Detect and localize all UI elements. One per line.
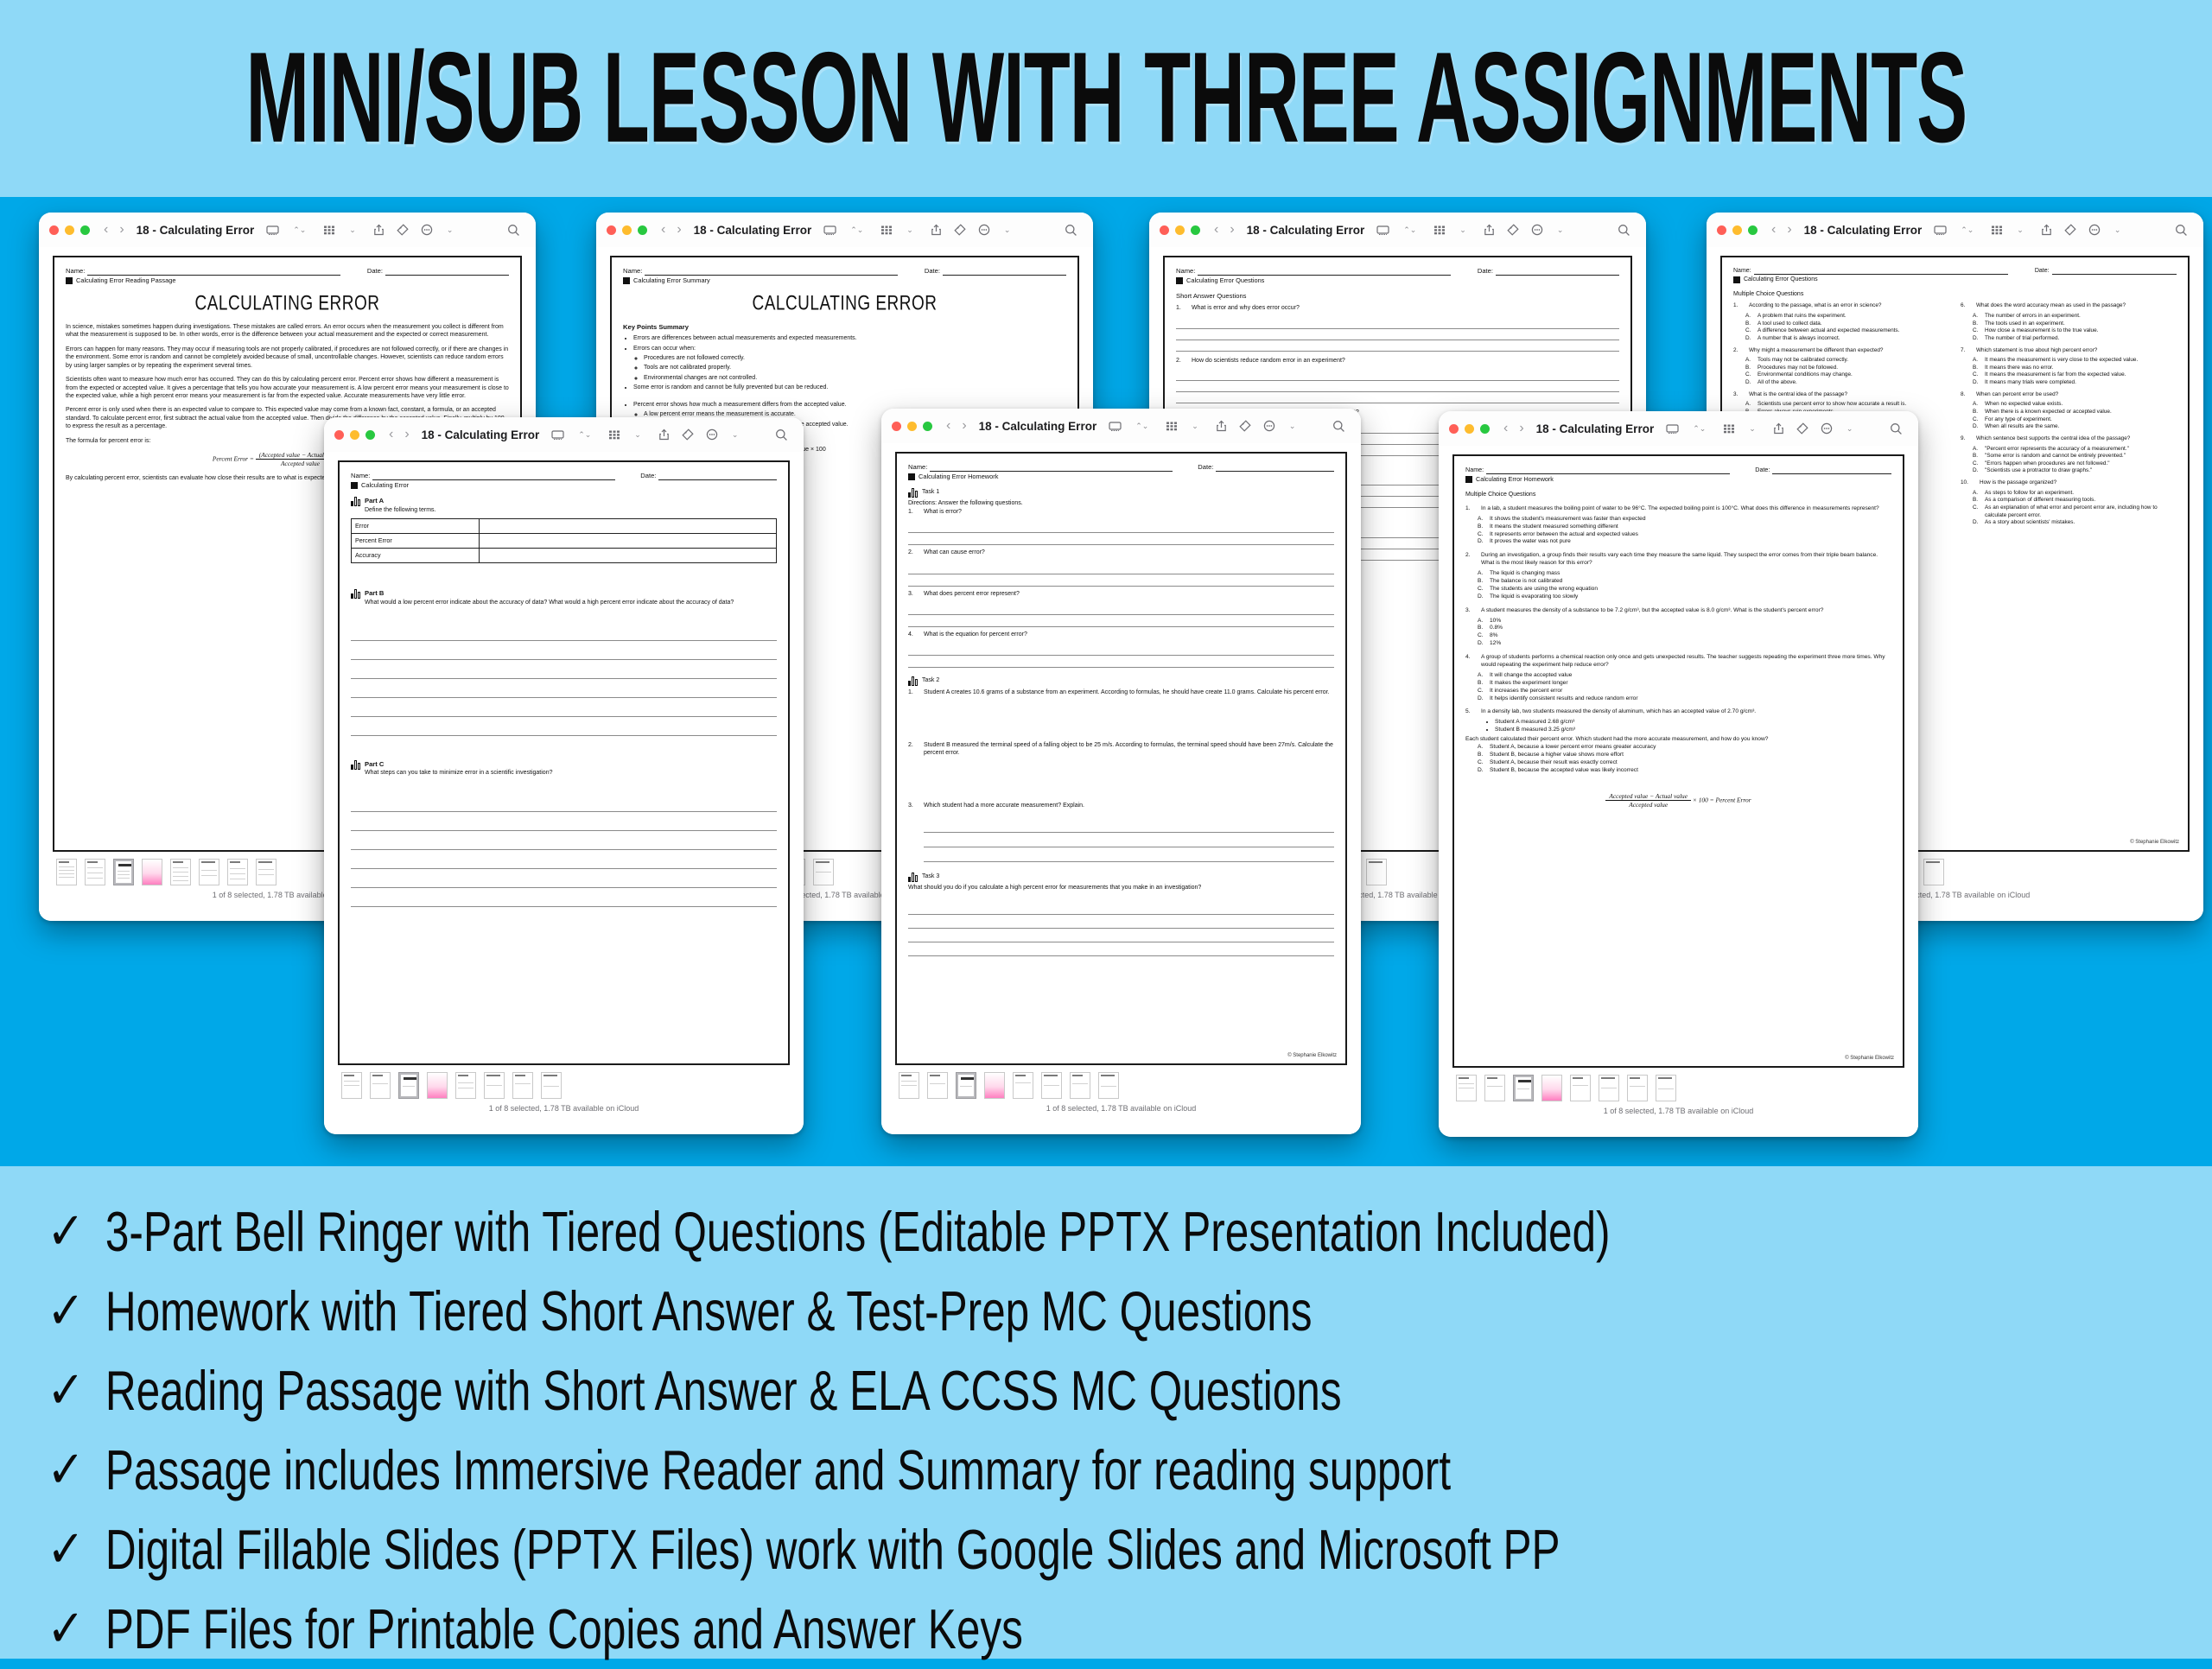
search-icon[interactable] — [775, 428, 788, 441]
minimize-icon[interactable] — [1465, 424, 1474, 434]
file-thumbnail[interactable] — [899, 1072, 919, 1099]
answer-lines[interactable] — [351, 622, 777, 736]
window-toolbar[interactable]: ‹ › 18 - Calculating Error ⌃⌄ ⌄ ⌄ — [596, 213, 1093, 247]
page-title: MINI/SUB LESSON WITH THREE ASSIGNMENTS — [245, 25, 1967, 172]
maximize-icon[interactable] — [80, 225, 90, 235]
choice[interactable]: B.A tool used to collect data. — [1745, 320, 1949, 328]
filmstrip[interactable] — [338, 1065, 790, 1101]
document-heading: CALCULATING ERROR — [66, 290, 509, 318]
file-thumbnail[interactable] — [256, 859, 276, 885]
file-thumbnail[interactable] — [227, 859, 248, 885]
share-icon[interactable] — [373, 224, 385, 236]
nav-arrows[interactable]: ‹ › — [389, 427, 410, 442]
share-icon[interactable] — [931, 224, 942, 236]
answer-lines[interactable] — [908, 901, 1334, 956]
more-icon[interactable] — [2088, 224, 2101, 236]
choice[interactable]: A.10% — [1478, 618, 1891, 625]
share-icon[interactable] — [658, 428, 670, 441]
choice[interactable]: B.Procedures may not be followed. — [1745, 365, 1949, 372]
choice-list: A.Tools may not be calibrated correctly.… — [1745, 357, 1949, 387]
chevron-updown-icon[interactable]: ⌃⌄ — [293, 225, 306, 235]
choice[interactable]: C.It increases the percent error — [1478, 688, 1891, 695]
file-thumbnail[interactable] — [541, 1072, 562, 1099]
minimize-icon[interactable] — [622, 225, 632, 235]
choice[interactable]: A.It will change the accepted value — [1478, 672, 1891, 680]
toolbar-icons[interactable]: ⌃⌄ ⌄ ⌄ — [1934, 224, 2120, 236]
q-text: Which statement is true about high perce… — [1976, 347, 2177, 355]
tag-icon[interactable] — [1239, 420, 1251, 432]
search-icon[interactable] — [1890, 422, 1903, 435]
chevron-updown-icon[interactable]: ⌃⌄ — [850, 225, 863, 235]
more-icon[interactable] — [978, 224, 990, 236]
definition-cell[interactable] — [479, 549, 776, 563]
chevron-updown-icon[interactable]: ⌃⌄ — [1403, 225, 1416, 235]
file-thumbnail[interactable] — [1098, 1072, 1119, 1099]
choice[interactable]: B.As a comparison of different measuring… — [1973, 497, 2177, 505]
nav-arrows[interactable]: ‹ › — [104, 222, 124, 238]
feature-label: Passage includes Immersive Reader and Su… — [97, 1437, 1451, 1502]
minimize-icon[interactable] — [350, 430, 359, 440]
more-icon[interactable] — [421, 224, 433, 236]
close-icon[interactable] — [607, 225, 616, 235]
nav-arrows[interactable]: ‹ › — [661, 222, 682, 238]
window-toolbar[interactable]: ‹ › 18 - Calculating Error ⌃⌄ ⌄ ⌄ — [1149, 213, 1646, 247]
search-icon[interactable] — [1065, 224, 1077, 237]
file-thumbnail[interactable] — [1070, 1072, 1090, 1099]
nav-arrows[interactable]: ‹ › — [1503, 421, 1524, 436]
file-thumbnail-selected[interactable] — [1513, 1075, 1534, 1101]
tag-icon[interactable] — [1507, 224, 1519, 236]
choice[interactable]: C.Student A, because their result was ex… — [1478, 759, 1891, 767]
back-icon[interactable]: ‹ — [661, 222, 665, 238]
part-a-directions: Define the following terms. — [365, 507, 435, 513]
answer-lines[interactable] — [1176, 370, 1619, 403]
q-number: 4. — [1465, 654, 1476, 670]
name-date-row: Name: Date: — [623, 267, 1066, 276]
file-thumbnail[interactable] — [1923, 859, 1944, 885]
formula-label: Percent Error = — [213, 455, 254, 463]
filmstrip[interactable] — [895, 1065, 1347, 1101]
choice[interactable]: A.It means the measurement is very close… — [1973, 357, 2177, 365]
chevron-down-icon[interactable]: ⌄ — [349, 225, 356, 235]
date-label: Date: — [1198, 463, 1213, 472]
question-text: How do scientists reduce random error in… — [1192, 357, 1619, 365]
maximize-icon[interactable] — [1191, 225, 1200, 235]
choice[interactable]: B.Student B, because a higher value show… — [1478, 752, 1891, 759]
file-thumbnail[interactable] — [1541, 1075, 1562, 1101]
choice[interactable]: C.It represents error between the actual… — [1478, 531, 1891, 539]
finder-window-homework-mc[interactable]: ‹ › 18 - Calculating Error ⌃⌄ ⌄ ⌄ Name: — [1439, 411, 1918, 1137]
file-thumbnail[interactable] — [1456, 1075, 1477, 1101]
filmstrip[interactable] — [1452, 1068, 1904, 1103]
mc-question: 2.Why might a measurement be different t… — [1733, 347, 1949, 355]
choice[interactable]: C.A difference between actual and expect… — [1745, 327, 1949, 335]
back-icon[interactable]: ‹ — [389, 427, 393, 442]
window-toolbar[interactable]: ‹ › 18 - Calculating Error ⌃⌄ ⌄ ⌄ — [324, 417, 804, 452]
window-toolbar[interactable]: ‹ › 18 - Calculating Error ⌃⌄ ⌄ ⌄ — [1707, 213, 2203, 247]
file-thumbnail[interactable] — [484, 1072, 505, 1099]
file-thumbnail[interactable] — [1627, 1075, 1648, 1101]
choice[interactable]: D.It means many trials were completed. — [1973, 379, 2177, 387]
question-item: 4.What is the equation for percent error… — [908, 631, 1334, 638]
more-icon[interactable] — [1531, 224, 1543, 236]
choice-text: As a story about scientists' mistakes. — [1985, 519, 2075, 527]
toolbar-icons[interactable]: ⌃⌄ ⌄ ⌄ — [823, 224, 1010, 236]
close-icon[interactable] — [49, 225, 59, 235]
file-thumbnail[interactable] — [984, 1072, 1005, 1099]
term-cell: Error — [352, 519, 480, 534]
close-icon[interactable] — [1449, 424, 1459, 434]
part-c-header: Part CWhat steps can you take to minimiz… — [351, 760, 777, 777]
file-thumbnail[interactable] — [199, 859, 219, 885]
choice[interactable]: B."Some error is random and cannot be en… — [1973, 453, 2177, 460]
choice[interactable]: D.As a story about scientists' mistakes. — [1973, 519, 2177, 527]
formula-tail: × 100 = Percent Error — [1693, 796, 1751, 803]
back-icon[interactable]: ‹ — [1503, 421, 1508, 436]
forward-icon[interactable]: › — [1519, 421, 1523, 436]
choice-text: All of the above. — [1758, 379, 1797, 387]
group-icon[interactable] — [1991, 225, 2003, 236]
choice[interactable]: D.12% — [1478, 640, 1891, 648]
group-icon[interactable] — [1723, 423, 1735, 435]
minimize-icon[interactable] — [1732, 225, 1742, 235]
q-text: A group of students performs a chemical … — [1481, 654, 1891, 670]
choice-text: When all results are the same. — [1985, 423, 2059, 431]
maximize-icon[interactable] — [638, 225, 647, 235]
choice[interactable]: A.As steps to follow for an experiment. — [1973, 490, 2177, 498]
tag-icon[interactable] — [682, 428, 694, 441]
traffic-lights[interactable] — [607, 225, 647, 235]
choice[interactable]: D.It helps identify consistent results a… — [1478, 695, 1891, 703]
choice[interactable]: A.It shows the student's measurement was… — [1478, 516, 1891, 524]
nav-arrows[interactable]: ‹ › — [1214, 222, 1235, 238]
file-thumbnail[interactable] — [455, 1072, 476, 1099]
chevron-down-icon[interactable]: ⌄ — [1192, 422, 1198, 431]
tag-icon[interactable] — [1796, 422, 1808, 435]
mc-question: 8.When can percent error be used? — [1961, 391, 2177, 399]
search-icon[interactable] — [507, 224, 520, 237]
maximize-icon[interactable] — [1480, 424, 1490, 434]
mc-question: 3.A student measures the density of a su… — [1465, 607, 1891, 615]
minimize-icon[interactable] — [907, 422, 917, 431]
window-title: 18 - Calculating Error — [979, 420, 1097, 433]
part-a-label: Part A — [365, 497, 384, 505]
choice[interactable]: C.How close a measurement is to the true… — [1973, 327, 2177, 335]
part-b-directions: What would a low percent error indicate … — [365, 600, 734, 606]
close-icon[interactable] — [1160, 225, 1169, 235]
choice[interactable]: C.Environmental conditions may change. — [1745, 371, 1949, 379]
nav-arrows[interactable]: ‹ › — [946, 418, 967, 434]
percent-error-formula: Accepted value − Actual value Accepted v… — [1465, 792, 1891, 809]
answer-lines[interactable] — [351, 793, 777, 907]
view-icon[interactable] — [266, 225, 279, 236]
task1-header: Task 1 — [908, 488, 1334, 498]
choice[interactable]: B.The balance is not calibrated — [1478, 578, 1891, 586]
choice[interactable]: B.It means the student measured somethin… — [1478, 524, 1891, 531]
forward-icon[interactable]: › — [962, 418, 966, 434]
file-thumbnail[interactable] — [1041, 1072, 1062, 1099]
back-icon[interactable]: ‹ — [1771, 222, 1776, 238]
choice[interactable]: D.A number that is always incorrect. — [1745, 335, 1949, 343]
definition-table: Error Percent Error Accuracy — [351, 518, 777, 563]
tag-icon[interactable] — [954, 224, 966, 236]
forward-icon[interactable]: › — [404, 427, 409, 442]
choice[interactable]: D.The number of trial performed. — [1973, 335, 2177, 343]
answer-lines[interactable] — [908, 644, 1334, 668]
chevron-down-icon[interactable]: ⌄ — [1847, 424, 1853, 434]
name-date-row: Name: Date: — [1733, 267, 2177, 275]
toolbar-icons[interactable]: ⌃⌄ ⌄ ⌄ — [266, 224, 453, 236]
feature-label: Homework with Tiered Short Answer & Test… — [97, 1279, 1313, 1343]
choice[interactable]: C.The students are using the wrong equat… — [1478, 586, 1891, 593]
q-text: According to the passage, what is an err… — [1749, 302, 1949, 310]
back-icon[interactable]: ‹ — [1214, 222, 1218, 238]
file-thumbnail-selected[interactable] — [956, 1072, 976, 1099]
file-thumbnail[interactable] — [85, 859, 105, 885]
sub-bullet: Student B measured 3.25 g/cm³ — [1495, 727, 1891, 734]
search-icon[interactable] — [1332, 420, 1345, 433]
part-b-header: Part BWhat would a low percent error ind… — [351, 589, 777, 606]
traffic-lights[interactable] — [1717, 225, 1758, 235]
check-icon: ✓ — [35, 1603, 97, 1655]
toolbar-icons[interactable]: ⌃⌄ ⌄ ⌄ — [1109, 420, 1295, 432]
tag-icon[interactable] — [2064, 224, 2076, 236]
choice-text: It makes the experiment longer — [1490, 680, 1568, 688]
group-icon[interactable] — [323, 225, 335, 236]
close-icon[interactable] — [334, 430, 344, 440]
file-thumbnail[interactable] — [1599, 1075, 1619, 1101]
chevron-down-icon[interactable]: ⌄ — [1004, 225, 1011, 235]
tag-icon[interactable] — [397, 224, 409, 236]
choice-text: It will change the accepted value — [1490, 672, 1572, 680]
choice[interactable]: D.When all results are the same. — [1973, 423, 2177, 431]
maximize-icon[interactable] — [365, 430, 375, 440]
file-thumbnail[interactable] — [1484, 1075, 1505, 1101]
more-icon[interactable] — [706, 428, 718, 441]
choice-text: 8% — [1490, 632, 1498, 640]
maximize-icon[interactable] — [1748, 225, 1758, 235]
chevron-down-icon[interactable]: ⌄ — [732, 430, 739, 440]
maximize-icon[interactable] — [923, 422, 932, 431]
status-bar: 1 of 8 selected, 1.78 TB available on iC… — [1452, 1103, 1904, 1122]
nav-arrows[interactable]: ‹ › — [1771, 222, 1792, 238]
share-icon[interactable] — [1773, 422, 1784, 435]
toolbar-icons[interactable]: ⌃⌄ ⌄ ⌄ — [551, 428, 738, 441]
feature-item: ✓ 3-Part Bell Ringer with Tiered Questio… — [35, 1192, 2177, 1272]
choice[interactable]: B.It means there was no error. — [1973, 365, 2177, 372]
chevron-updown-icon[interactable]: ⌃⌄ — [1961, 225, 1974, 235]
view-icon[interactable] — [1934, 225, 1947, 236]
chevron-down-icon[interactable]: ⌄ — [634, 430, 641, 440]
choice[interactable]: A.The liquid is changing mass — [1478, 570, 1891, 578]
mc-question: 7.Which statement is true about high per… — [1961, 347, 2177, 355]
toolbar-icons[interactable]: ⌃⌄ ⌄ ⌄ — [1376, 224, 1563, 236]
share-icon[interactable] — [2041, 224, 2052, 236]
q-number: 1. — [1465, 505, 1476, 513]
choice[interactable]: C.It means the measurement is far from t… — [1973, 371, 2177, 379]
definition-cell[interactable] — [479, 519, 776, 534]
toolbar-icons[interactable]: ⌃⌄ ⌄ ⌄ — [1666, 422, 1853, 435]
close-icon[interactable] — [1717, 225, 1726, 235]
hw-mc-section-title: Multiple Choice Questions — [1465, 491, 1891, 498]
view-icon[interactable] — [1376, 225, 1389, 236]
file-thumbnail[interactable] — [56, 859, 77, 885]
q-text: In a density lab, two students measured … — [1481, 708, 1891, 716]
view-icon[interactable] — [551, 429, 564, 441]
back-icon[interactable]: ‹ — [104, 222, 108, 238]
chevron-updown-icon[interactable]: ⌃⌄ — [1693, 424, 1706, 434]
name-label: Name: — [351, 472, 370, 480]
view-icon[interactable] — [1109, 421, 1122, 432]
choice[interactable]: A.When no expected value exists. — [1973, 401, 2177, 409]
answer-lines[interactable] — [908, 521, 1334, 545]
file-thumbnail[interactable] — [341, 1072, 362, 1099]
chevron-down-icon[interactable]: ⌄ — [1289, 422, 1296, 431]
file-thumbnail[interactable] — [170, 859, 191, 885]
chevron-down-icon[interactable]: ⌄ — [447, 225, 454, 235]
minimize-icon[interactable] — [1175, 225, 1185, 235]
choice[interactable]: B.0.8% — [1478, 625, 1891, 632]
choice-list: A.The number of errors in an experiment.… — [1973, 313, 2177, 343]
summary-bullet: Procedures are not followed correctly. — [644, 354, 1066, 362]
chevron-down-icon[interactable]: ⌄ — [2114, 225, 2121, 235]
summary-bullet: Environmental changes are not controlled… — [644, 374, 1066, 382]
answer-lines[interactable] — [1176, 318, 1619, 352]
view-icon[interactable] — [823, 225, 836, 236]
file-thumbnail-selected[interactable] — [113, 859, 134, 885]
file-thumbnail[interactable] — [1656, 1075, 1676, 1101]
window-toolbar[interactable]: ‹ › 18 - Calculating Error ⌃⌄ ⌄ ⌄ — [881, 409, 1361, 443]
traffic-lights[interactable] — [334, 430, 375, 440]
choice[interactable]: A.The number of errors in an experiment. — [1973, 313, 2177, 320]
file-thumbnail[interactable] — [142, 859, 162, 885]
group-icon[interactable] — [1166, 421, 1178, 432]
search-icon[interactable] — [1618, 224, 1630, 237]
traffic-lights[interactable] — [1160, 225, 1200, 235]
traffic-lights[interactable] — [1449, 424, 1490, 434]
choice[interactable]: C."Errors happen when procedures are not… — [1973, 460, 2177, 468]
choice[interactable]: D.The liquid is evaporating too slowly — [1478, 593, 1891, 601]
traffic-lights[interactable] — [49, 225, 90, 235]
choice[interactable]: B.When there is a known expected or acce… — [1973, 409, 2177, 416]
choice[interactable]: D.All of the above. — [1745, 379, 1949, 387]
chevron-updown-icon[interactable]: ⌃⌄ — [578, 430, 591, 440]
answer-lines[interactable] — [924, 818, 1334, 862]
choice-text: Student A, because their result was exac… — [1490, 759, 1618, 767]
chevron-down-icon[interactable]: ⌄ — [1557, 225, 1564, 235]
group-icon[interactable] — [608, 429, 620, 441]
window-title: 18 - Calculating Error — [1536, 422, 1655, 435]
choice[interactable]: D.Student B, because the accepted value … — [1478, 767, 1891, 775]
file-thumbnail[interactable] — [512, 1072, 533, 1099]
share-icon[interactable] — [1216, 420, 1227, 432]
window-toolbar[interactable]: ‹ › 18 - Calculating Error ⌃⌄ ⌄ — [39, 213, 536, 247]
share-icon[interactable] — [1484, 224, 1495, 236]
file-thumbnail[interactable] — [1570, 1075, 1591, 1101]
definition-cell[interactable] — [479, 534, 776, 549]
minimize-icon[interactable] — [65, 225, 74, 235]
traffic-lights[interactable] — [892, 422, 932, 431]
mc-section-title: Multiple Choice Questions — [1733, 290, 2177, 298]
choice-list: A.A problem that ruins the experiment. B… — [1745, 313, 1949, 343]
file-thumbnail[interactable] — [1013, 1072, 1033, 1099]
search-icon[interactable] — [2175, 224, 2188, 237]
choice[interactable]: A.Tools may not be calibrated correctly. — [1745, 357, 1949, 365]
q-text: A student measures the density of a subs… — [1481, 607, 1891, 615]
date-label: Date: — [367, 267, 383, 276]
view-icon[interactable] — [1666, 423, 1679, 435]
chevron-updown-icon[interactable]: ⌃⌄ — [1135, 422, 1148, 431]
chevron-down-icon[interactable]: ⌄ — [2017, 225, 2024, 235]
choice[interactable]: A.A problem that ruins the experiment. — [1745, 313, 1949, 320]
check-icon: ✓ — [35, 1365, 97, 1417]
task3-label: Task 3 — [922, 873, 939, 880]
window-body: Name: Date: Calculating Error Part ADefi… — [324, 452, 804, 1134]
copyright: © Stephanie Elkowitz — [1287, 1052, 1337, 1059]
file-thumbnail[interactable] — [370, 1072, 391, 1099]
choice[interactable]: C.For any type of experiment. — [1973, 416, 2177, 424]
chevron-down-icon[interactable]: ⌄ — [906, 225, 913, 235]
more-icon[interactable] — [1263, 420, 1275, 432]
finder-window-homework-tasks[interactable]: ‹ › 18 - Calculating Error ⌃⌄ ⌄ ⌄ Name: — [881, 409, 1361, 1134]
formula-denominator: Accepted value — [277, 460, 323, 467]
choice[interactable]: B.The tools used in an experiment. — [1973, 320, 2177, 328]
mc-question: 9.Which sentence best supports the centr… — [1961, 435, 2177, 443]
square-bullet-icon — [66, 277, 73, 284]
document-heading: CALCULATING ERROR — [623, 290, 1066, 318]
file-thumbnail[interactable] — [813, 859, 834, 885]
mc-question: 1.In a lab, a student measures the boili… — [1465, 505, 1891, 513]
mc-question: 5.In a density lab, two students measure… — [1465, 708, 1891, 716]
choice[interactable]: A.Scientists use percent error to show h… — [1745, 401, 1949, 409]
forward-icon[interactable]: › — [677, 222, 681, 238]
choice[interactable]: C.8% — [1478, 632, 1891, 640]
file-thumbnail[interactable] — [1366, 859, 1387, 885]
question-item: 2.Student B measured the terminal speed … — [908, 741, 1334, 758]
bar-chart-icon — [351, 589, 360, 599]
choice[interactable]: C.As an explanation of what error and pe… — [1973, 505, 2177, 519]
question-item: 2.What can cause error? — [908, 549, 1334, 556]
choice[interactable]: B.It makes the experiment longer — [1478, 680, 1891, 688]
q-text: How is the passage organized? — [1980, 479, 2177, 487]
choice[interactable]: A.Student A, because a lower percent err… — [1478, 744, 1891, 752]
group-icon[interactable] — [1433, 225, 1446, 236]
forward-icon[interactable]: › — [1787, 222, 1791, 238]
file-thumbnail[interactable] — [427, 1072, 448, 1099]
group-icon[interactable] — [880, 225, 893, 236]
choice[interactable]: D.It proves the water was not pure — [1478, 538, 1891, 546]
forward-icon[interactable]: › — [119, 222, 124, 238]
forward-icon[interactable]: › — [1230, 222, 1234, 238]
file-thumbnail-selected[interactable] — [398, 1072, 419, 1099]
answer-lines[interactable] — [908, 562, 1334, 587]
q-number: 5. — [1465, 708, 1476, 716]
chevron-down-icon[interactable]: ⌄ — [1459, 225, 1466, 235]
back-icon[interactable]: ‹ — [946, 418, 950, 434]
part-a-header: Part ADefine the following terms. — [351, 497, 777, 514]
choice[interactable]: D."Scientists use a protractor to draw g… — [1973, 467, 2177, 475]
choice[interactable]: A."Percent error represents the accuracy… — [1973, 446, 2177, 454]
finder-window-bell-ringer[interactable]: ‹ › 18 - Calculating Error ⌃⌄ ⌄ ⌄ Name: — [324, 417, 804, 1134]
file-thumbnail[interactable] — [927, 1072, 948, 1099]
part-c-label: Part C — [365, 760, 384, 768]
window-toolbar[interactable]: ‹ › 18 - Calculating Error ⌃⌄ ⌄ ⌄ — [1439, 411, 1918, 446]
chevron-down-icon[interactable]: ⌄ — [1749, 424, 1756, 434]
close-icon[interactable] — [892, 422, 901, 431]
answer-lines[interactable] — [908, 603, 1334, 627]
table-row: Error — [352, 519, 777, 534]
more-icon[interactable] — [1821, 422, 1833, 435]
